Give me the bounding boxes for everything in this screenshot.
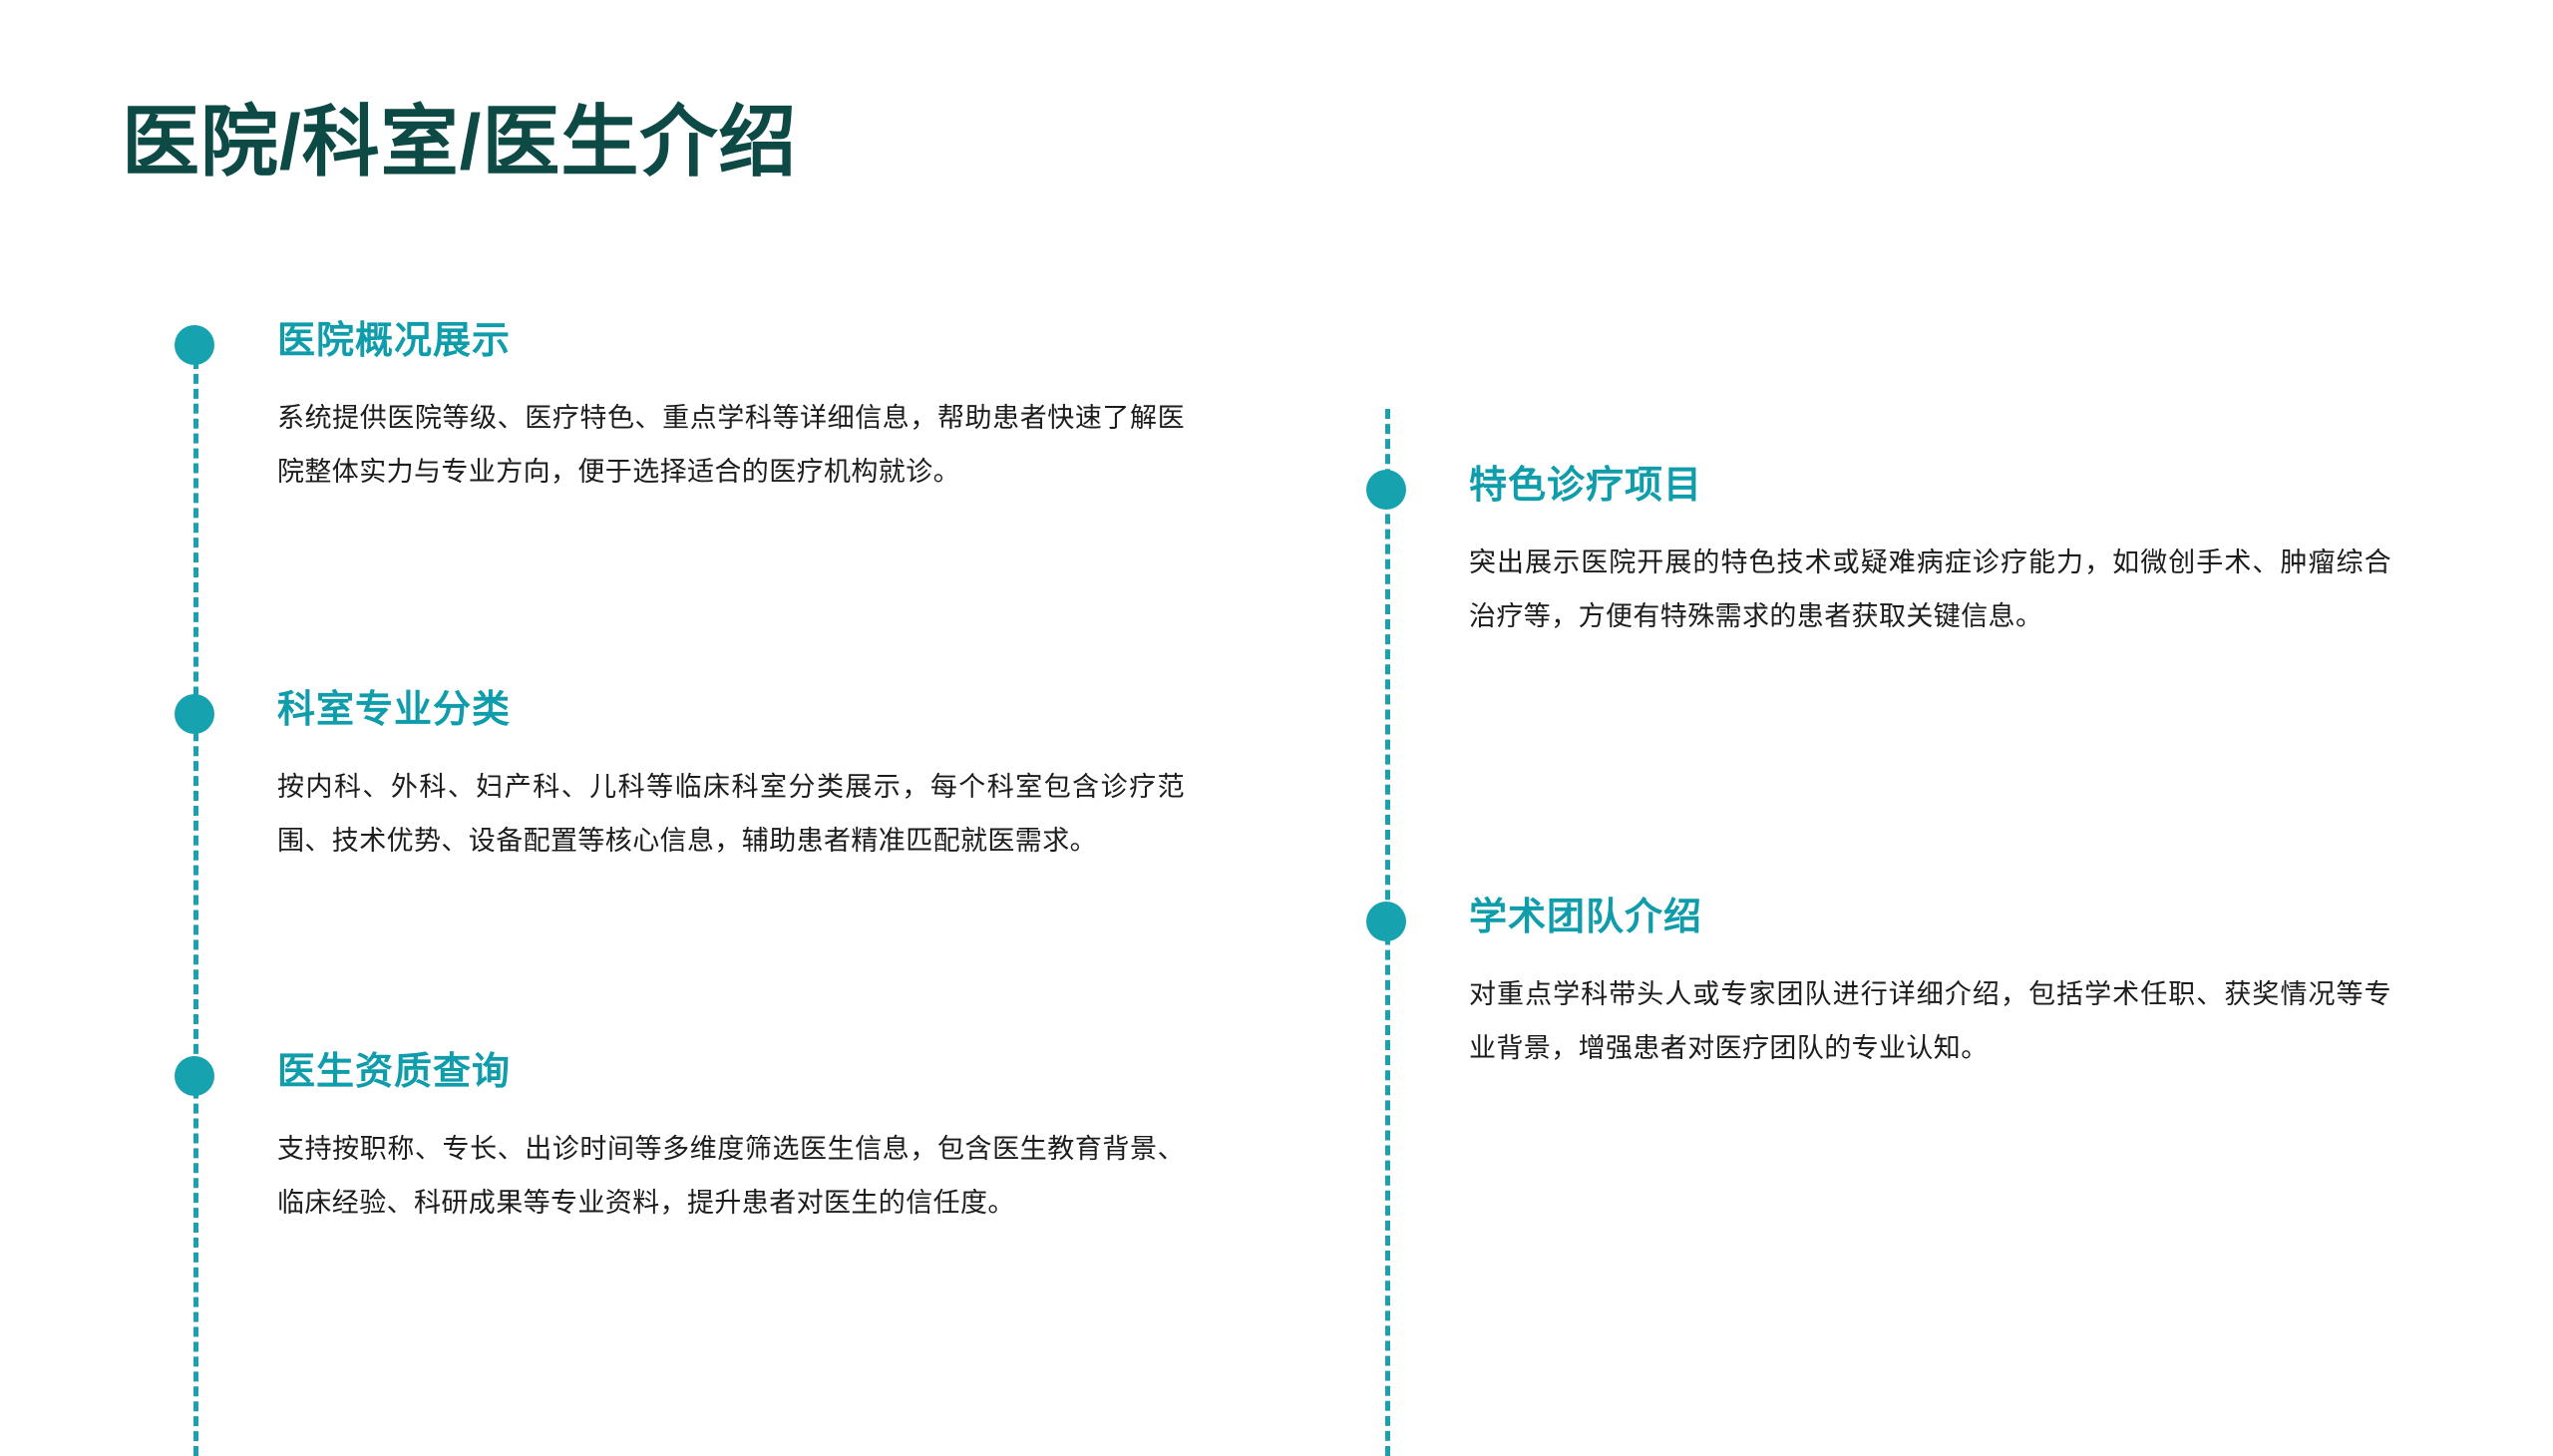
timeline-item-heading: 医生资质查询 bbox=[277, 1050, 1336, 1096]
timeline-item-description: 支持按职称、专长、出诊时间等多维度筛选医生信息，包含医生教育背景、临床经验、科研… bbox=[277, 1122, 1185, 1230]
timeline-item-description: 按内科、外科、妇产科、儿科等临床科室分类展示，每个科室包含诊疗范围、技术优势、设… bbox=[277, 760, 1185, 868]
timeline-dashed-rail-left bbox=[193, 359, 198, 1456]
timeline-dot-icon bbox=[175, 1056, 214, 1096]
timeline-item-body: 医生资质查询 支持按职称、专长、出诊时间等多维度筛选医生信息，包含医生教育背景、… bbox=[277, 1050, 1336, 1230]
timeline-dot-icon bbox=[1366, 470, 1406, 510]
timeline-item-department-classification: 科室专业分类 按内科、外科、妇产科、儿科等临床科室分类展示，每个科室包含诊疗范围… bbox=[150, 688, 1336, 868]
timeline-item-heading: 学术团队介绍 bbox=[1469, 896, 2528, 941]
timeline-item-specialty-treatment: 特色诊疗项目 突出展示医院开展的特色技术或疑难病症诊疗能力，如微创手术、肿瘤综合… bbox=[1341, 464, 2528, 643]
timeline-item-description: 对重点学科带头人或专家团队进行详细介绍，包括学术任职、获奖情况等专业背景，增强患… bbox=[1469, 967, 2391, 1075]
timeline-item-heading: 科室专业分类 bbox=[277, 688, 1336, 734]
timeline-item-hospital-overview: 医院概况展示 系统提供医院等级、医疗特色、重点学科等详细信息，帮助患者快速了解医… bbox=[150, 319, 1336, 499]
timeline-item-description: 系统提供医院等级、医疗特色、重点学科等详细信息，帮助患者快速了解医院整体实力与专… bbox=[277, 391, 1185, 499]
timeline-item-heading: 特色诊疗项目 bbox=[1469, 464, 2528, 510]
timeline-item-body: 科室专业分类 按内科、外科、妇产科、儿科等临床科室分类展示，每个科室包含诊疗范围… bbox=[277, 688, 1336, 868]
timeline-column-right: 特色诊疗项目 突出展示医院开展的特色技术或疑难病症诊疗能力，如微创手术、肿瘤综合… bbox=[1341, 0, 2538, 1436]
timeline-item-heading: 医院概况展示 bbox=[277, 319, 1336, 365]
timeline-item-body: 学术团队介绍 对重点学科带头人或专家团队进行详细介绍，包括学术任职、获奖情况等专… bbox=[1469, 896, 2528, 1075]
timeline-item-body: 医院概况展示 系统提供医院等级、医疗特色、重点学科等详细信息，帮助患者快速了解医… bbox=[277, 319, 1336, 499]
timeline-dot-icon bbox=[175, 325, 214, 365]
timeline-dot-icon bbox=[1366, 902, 1406, 941]
timeline-item-body: 特色诊疗项目 突出展示医院开展的特色技术或疑难病症诊疗能力，如微创手术、肿瘤综合… bbox=[1469, 464, 2528, 643]
timeline-dot-icon bbox=[175, 694, 214, 734]
timeline-item-doctor-credentials: 医生资质查询 支持按职称、专长、出诊时间等多维度筛选医生信息，包含医生教育背景、… bbox=[150, 1050, 1336, 1230]
timeline-column-left: 医院概况展示 系统提供医院等级、医疗特色、重点学科等详细信息，帮助患者快速了解医… bbox=[150, 0, 1346, 1436]
timeline-item-description: 突出展示医院开展的特色技术或疑难病症诊疗能力，如微创手术、肿瘤综合治疗等，方便有… bbox=[1469, 536, 2391, 643]
timeline-item-academic-team: 学术团队介绍 对重点学科带头人或专家团队进行详细介绍，包括学术任职、获奖情况等专… bbox=[1341, 896, 2528, 1075]
